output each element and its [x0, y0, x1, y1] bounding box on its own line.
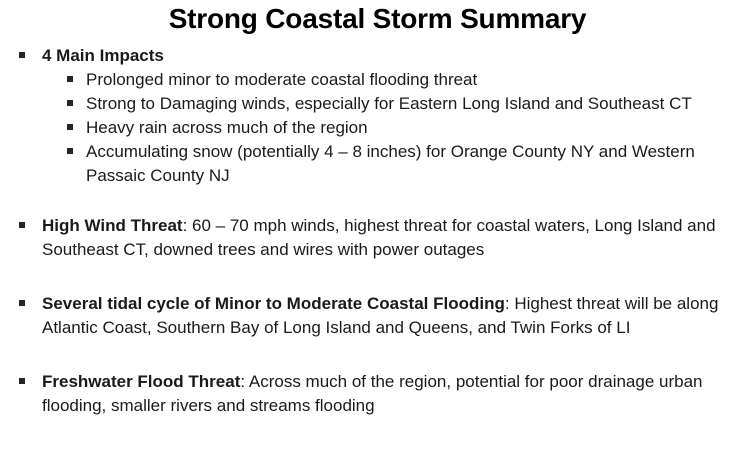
impact-text: Strong to Damaging winds, especially for… — [86, 94, 692, 113]
page-title: Strong Coastal Storm Summary — [0, 2, 755, 36]
square-bullet-icon — [67, 124, 73, 130]
square-bullet-icon — [19, 222, 25, 228]
impact-text: Accumulating snow (potentially 4 – 8 inc… — [86, 142, 695, 185]
impact-text: Prolonged minor to moderate coastal floo… — [86, 70, 477, 89]
list-item-threat-coastal-flooding: Several tidal cycle of Minor to Moderate… — [0, 292, 755, 340]
list-item-impact-1: Prolonged minor to moderate coastal floo… — [0, 68, 755, 92]
section-spacer — [0, 340, 755, 370]
list-item-impact-4: Accumulating snow (potentially 4 – 8 inc… — [0, 140, 755, 188]
list-item-main-impacts: 4 Main Impacts — [0, 44, 755, 68]
threat-label: Several tidal cycle of Minor to Moderate… — [42, 294, 505, 313]
square-bullet-icon — [67, 76, 73, 82]
slide-canvas: Strong Coastal Storm Summary 4 Main Impa… — [0, 0, 755, 469]
list-item-impact-2: Strong to Damaging winds, especially for… — [0, 92, 755, 116]
square-bullet-icon — [19, 300, 25, 306]
threat-label: Freshwater Flood Threat — [42, 372, 240, 391]
threat-label: High Wind Threat — [42, 216, 183, 235]
list-item-impact-3: Heavy rain across much of the region — [0, 116, 755, 140]
slide-body: 4 Main Impacts Prolonged minor to modera… — [0, 44, 755, 418]
square-bullet-icon — [19, 378, 25, 384]
section-spacer — [0, 262, 755, 292]
section-spacer — [0, 188, 755, 214]
impact-text: Heavy rain across much of the region — [86, 118, 368, 137]
square-bullet-icon — [67, 100, 73, 106]
square-bullet-icon — [67, 148, 73, 154]
list-item-threat-freshwater-flood: Freshwater Flood Threat: Across much of … — [0, 370, 755, 418]
square-bullet-icon — [19, 52, 25, 58]
list-item-threat-high-wind: High Wind Threat: 60 – 70 mph winds, hig… — [0, 214, 755, 262]
main-impacts-heading: 4 Main Impacts — [42, 46, 164, 65]
